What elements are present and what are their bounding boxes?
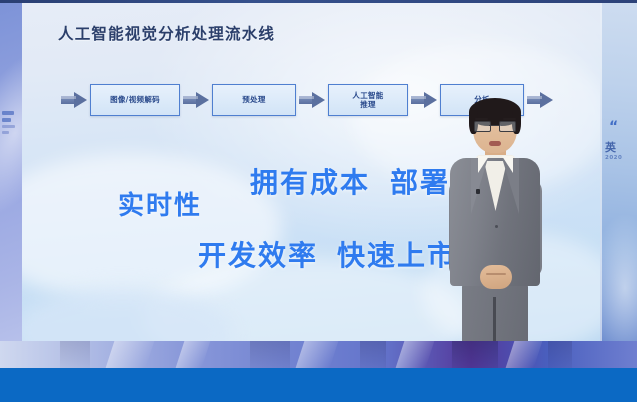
slide-title: 人工智能视觉分析处理流水线: [58, 22, 275, 44]
bottom-blue-bar: [0, 368, 637, 402]
right-panel-headline-fragment: 英: [605, 139, 616, 155]
keyword-dev-efficiency: 开发效率: [198, 234, 318, 274]
lapel-microphone-icon: [476, 189, 480, 194]
speaker-jacket-button: [495, 225, 498, 228]
left-strip-text-fragments: [2, 111, 20, 157]
keyword-time-to-market: 快速上市: [337, 234, 457, 274]
speaker-collar-right: [502, 156, 513, 173]
speaker-eyebrow: [475, 118, 488, 120]
eyeglasses-icon: [474, 121, 516, 131]
right-panel-date-fragment: 2020: [605, 155, 622, 161]
right-arrow-icon: [61, 92, 87, 109]
speaker-mouth: [489, 141, 501, 146]
pipeline-step-decode: 图像/视频解码: [90, 84, 180, 116]
right-panel-quote-mark: “: [609, 119, 618, 135]
left-slide-edge-strip: [0, 3, 22, 368]
right-slide-edge-panel: “ 英 2020: [600, 3, 637, 368]
right-arrow-icon: [183, 92, 209, 109]
stage-backdrop-band: [0, 341, 637, 368]
right-arrow-icon: [299, 92, 325, 109]
speaker-collar-left: [478, 156, 489, 173]
speaker-clasped-hands: [480, 265, 512, 289]
speaker-presenter: [440, 101, 550, 368]
speaker-eyebrow: [503, 118, 516, 120]
pipeline-step-preprocess: 预处理: [212, 84, 296, 116]
right-arrow-icon: [411, 92, 437, 109]
keyword-total-cost: 拥有成本: [250, 161, 370, 201]
keyword-realtime: 实时性: [118, 185, 202, 222]
pipeline-step-ai-inference: 人工智能 推理: [328, 84, 408, 116]
video-frame: 人工智能视觉分析处理流水线 图像/视频解码 预处理 人工智能 推理 分析: [0, 0, 637, 402]
